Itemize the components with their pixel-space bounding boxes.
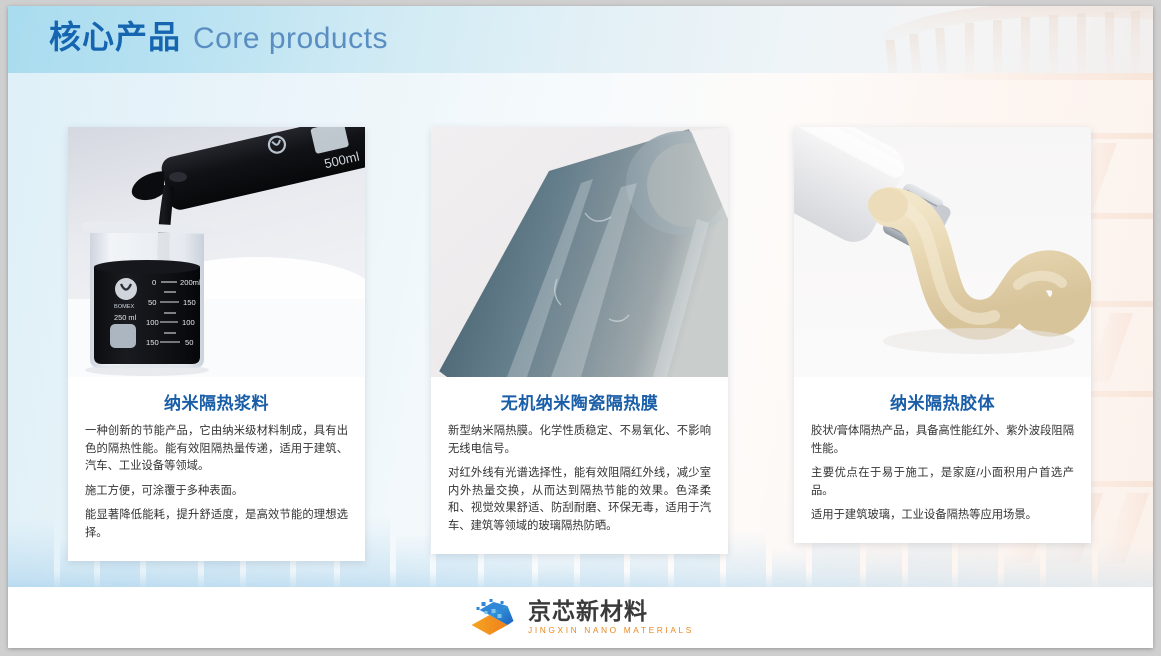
svg-text:0: 0	[152, 278, 156, 287]
product-paragraph: 适用于建筑玻璃，工业设备隔热等应用场景。	[811, 507, 1074, 525]
page-title: 核心产品 Core products	[49, 21, 388, 54]
product-card[interactable]: 无机纳米陶瓷隔热膜 新型纳米隔热膜。化学性质稳定、不易氧化、不影响无线电信号。 …	[431, 127, 728, 554]
product-card[interactable]: 500ml	[68, 127, 365, 561]
product-card-body: 纳米隔热胶体 胶状/膏体隔热产品，具备高性能红外、紫外波段阻隔性能。 主要优点在…	[794, 377, 1091, 543]
logo-name-en: JINGXIN NANO MATERIALS	[528, 626, 694, 634]
product-image-ceramic-film	[431, 127, 728, 377]
colonnade-watermark-icon	[863, 6, 1153, 73]
svg-text:50: 50	[185, 338, 193, 347]
svg-text:200ml: 200ml	[180, 278, 201, 287]
logo-text: 京芯新材料 JINGXIN NANO MATERIALS	[528, 600, 694, 634]
svg-text:150: 150	[183, 298, 196, 307]
slide: 核心产品 Core products	[8, 6, 1153, 648]
svg-text:BOMEX: BOMEX	[114, 304, 134, 310]
product-paragraph: 施工方便，可涂覆于多种表面。	[85, 483, 348, 501]
svg-text:100: 100	[146, 318, 159, 327]
product-paragraph: 胶状/膏体隔热产品，具备高性能红外、紫外波段阻隔性能。	[811, 423, 1074, 458]
product-paragraph: 一种创新的节能产品，它由纳米级材料制成，具有出色的隔热性能。能有效阻隔热量传递，…	[85, 423, 348, 476]
svg-text:100: 100	[182, 318, 195, 327]
product-card-body: 无机纳米陶瓷隔热膜 新型纳米隔热膜。化学性质稳定、不易氧化、不影响无线电信号。 …	[431, 377, 728, 554]
product-paragraph: 主要优点在于易于施工，是家庭/小面积用户首选产品。	[811, 465, 1074, 500]
product-card[interactable]: 纳米隔热胶体 胶状/膏体隔热产品，具备高性能红外、紫外波段阻隔性能。 主要优点在…	[794, 127, 1091, 543]
product-title: 纳米隔热胶体	[811, 389, 1074, 414]
slide-header: 核心产品 Core products	[8, 6, 1153, 73]
product-card-body: 纳米隔热浆料 一种创新的节能产品，它由纳米级材料制成，具有出色的隔热性能。能有效…	[68, 377, 365, 561]
pixel-mosaic-logo-icon	[467, 598, 517, 638]
slide-body: 500ml	[8, 73, 1153, 587]
page-title-en: Core products	[193, 24, 388, 54]
product-title: 纳米隔热浆料	[85, 389, 348, 414]
page-title-cn: 核心产品	[49, 21, 181, 53]
product-card-list: 500ml	[8, 73, 1153, 587]
svg-text:50: 50	[148, 298, 156, 307]
product-paragraph: 对红外线有光谱选择性，能有效阻隔红外线，减少室内外热量交换，从而达到隔热节能的效…	[448, 465, 711, 535]
product-title: 无机纳米陶瓷隔热膜	[448, 389, 711, 414]
logo-name-cn: 京芯新材料	[528, 600, 648, 623]
product-image-nano-paste	[794, 127, 1091, 377]
product-paragraph: 新型纳米隔热膜。化学性质稳定、不易氧化、不影响无线电信号。	[448, 423, 711, 458]
company-logo: 京芯新材料 JINGXIN NANO MATERIALS	[467, 598, 694, 638]
product-image-nano-slurry: 500ml	[68, 127, 365, 377]
svg-text:250 ml: 250 ml	[114, 313, 137, 322]
slide-footer: 京芯新材料 JINGXIN NANO MATERIALS	[8, 587, 1153, 648]
product-paragraph: 能显著降低能耗，提升舒适度，是高效节能的理想选择。	[85, 507, 348, 542]
svg-text:150: 150	[146, 338, 159, 347]
